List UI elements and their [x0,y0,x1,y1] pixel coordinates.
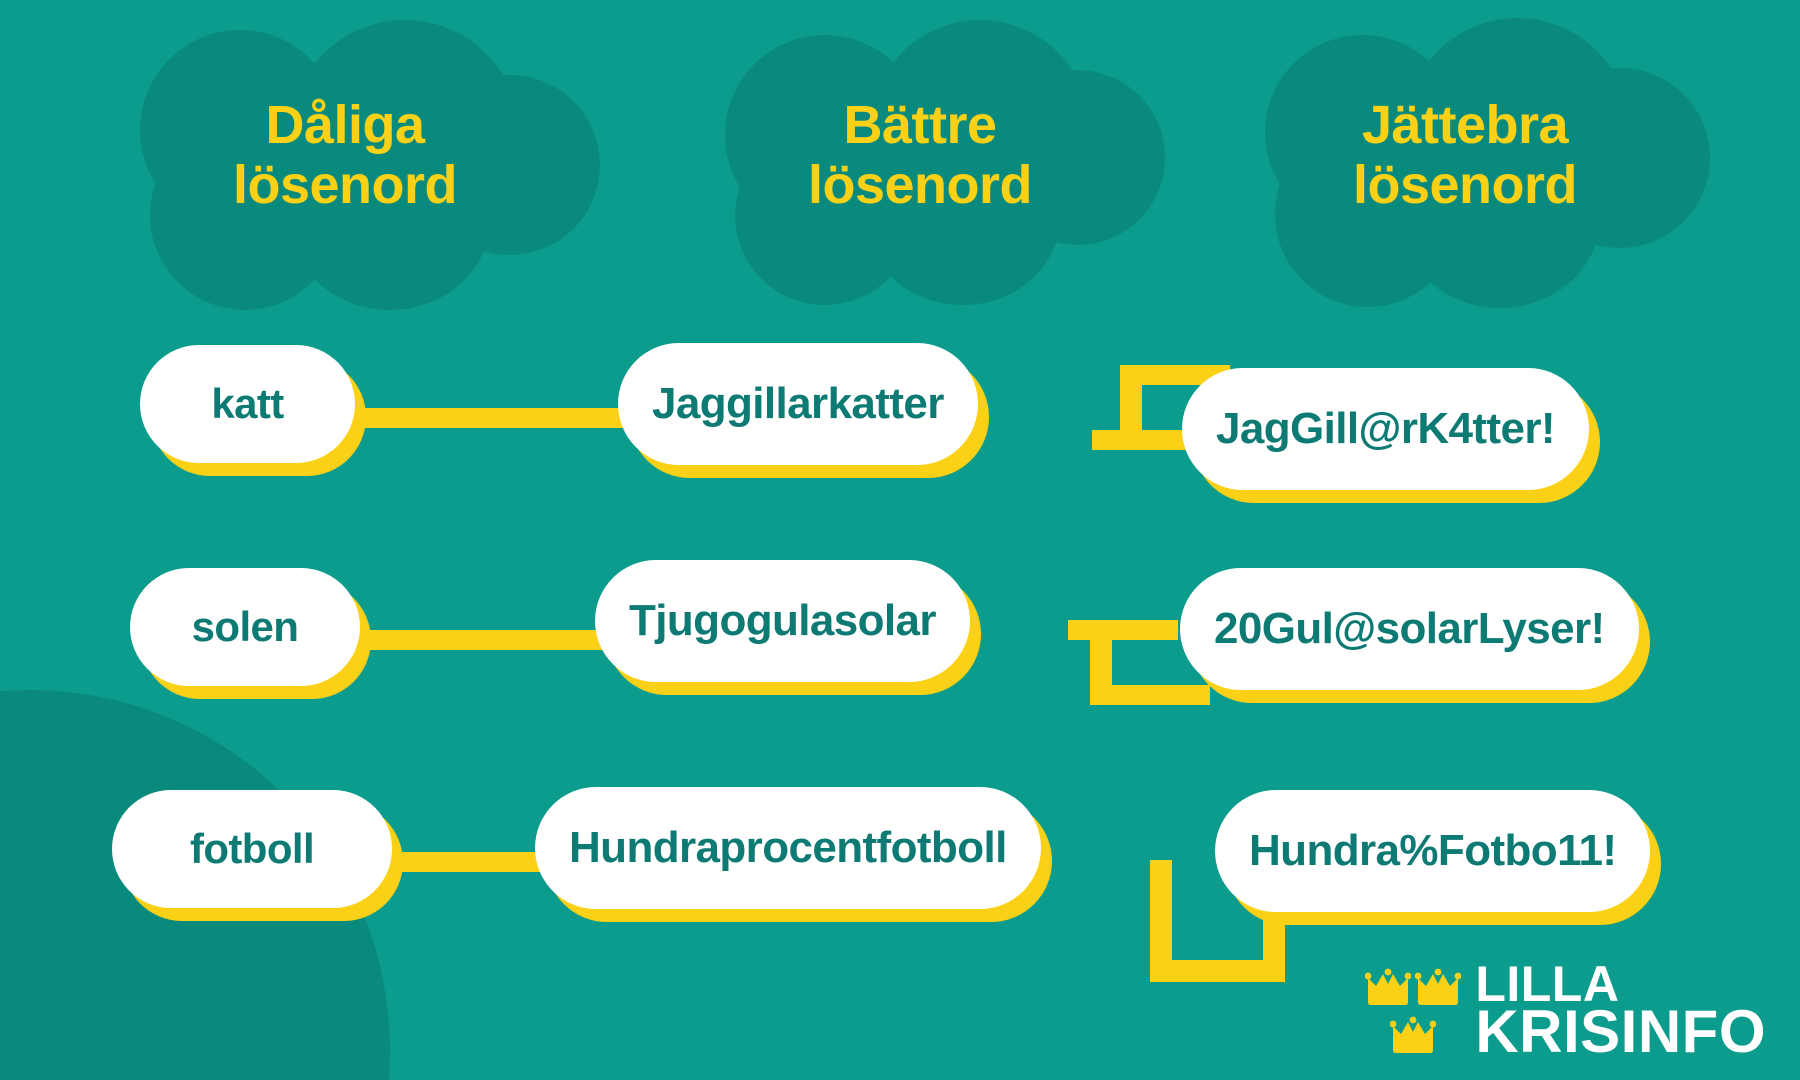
infographic-canvas: Dåliga lösenord Bättre lösenord Jättebra… [0,0,1800,1080]
password-text: Jaggillarkatter [652,379,944,429]
password-text: katt [211,380,283,428]
password-text: Tjugogulasolar [629,596,936,646]
password-pill-best-1[interactable]: JagGill@rK4tter! [1182,368,1589,490]
password-pill-bad-2[interactable]: solen [130,568,360,686]
password-text: fotboll [190,825,314,873]
password-pill-best-3[interactable]: Hundra%Fotbo11! [1215,790,1650,912]
password-pill-best-2[interactable]: 20Gul@solarLyser! [1180,568,1639,690]
lilla-krisinfo-logo[interactable]: LILLA KRISINFO [1365,962,1766,1058]
three-crowns-icon [1365,962,1461,1058]
password-text: Hundra%Fotbo11! [1249,826,1616,876]
logo-wordmark: LILLA KRISINFO [1475,963,1766,1058]
crown-icon [1390,1014,1436,1054]
password-rows: katt Jaggillarkatter JagGill@rK4tter! so… [0,0,1800,1080]
password-text: solen [192,603,299,651]
crown-icon [1415,966,1461,1006]
password-text: Hundraprocentfotboll [569,823,1007,873]
password-text: JagGill@rK4tter! [1216,404,1555,454]
crown-icon [1365,966,1411,1006]
password-pill-bad-3[interactable]: fotboll [112,790,392,908]
password-pill-better-3[interactable]: Hundraprocentfotboll [535,787,1041,909]
password-pill-better-2[interactable]: Tjugogulasolar [595,560,970,682]
password-pill-bad-1[interactable]: katt [140,345,355,463]
password-text: 20Gul@solarLyser! [1214,604,1605,654]
logo-line-2: KRISINFO [1475,1006,1766,1058]
password-pill-better-1[interactable]: Jaggillarkatter [618,343,978,465]
